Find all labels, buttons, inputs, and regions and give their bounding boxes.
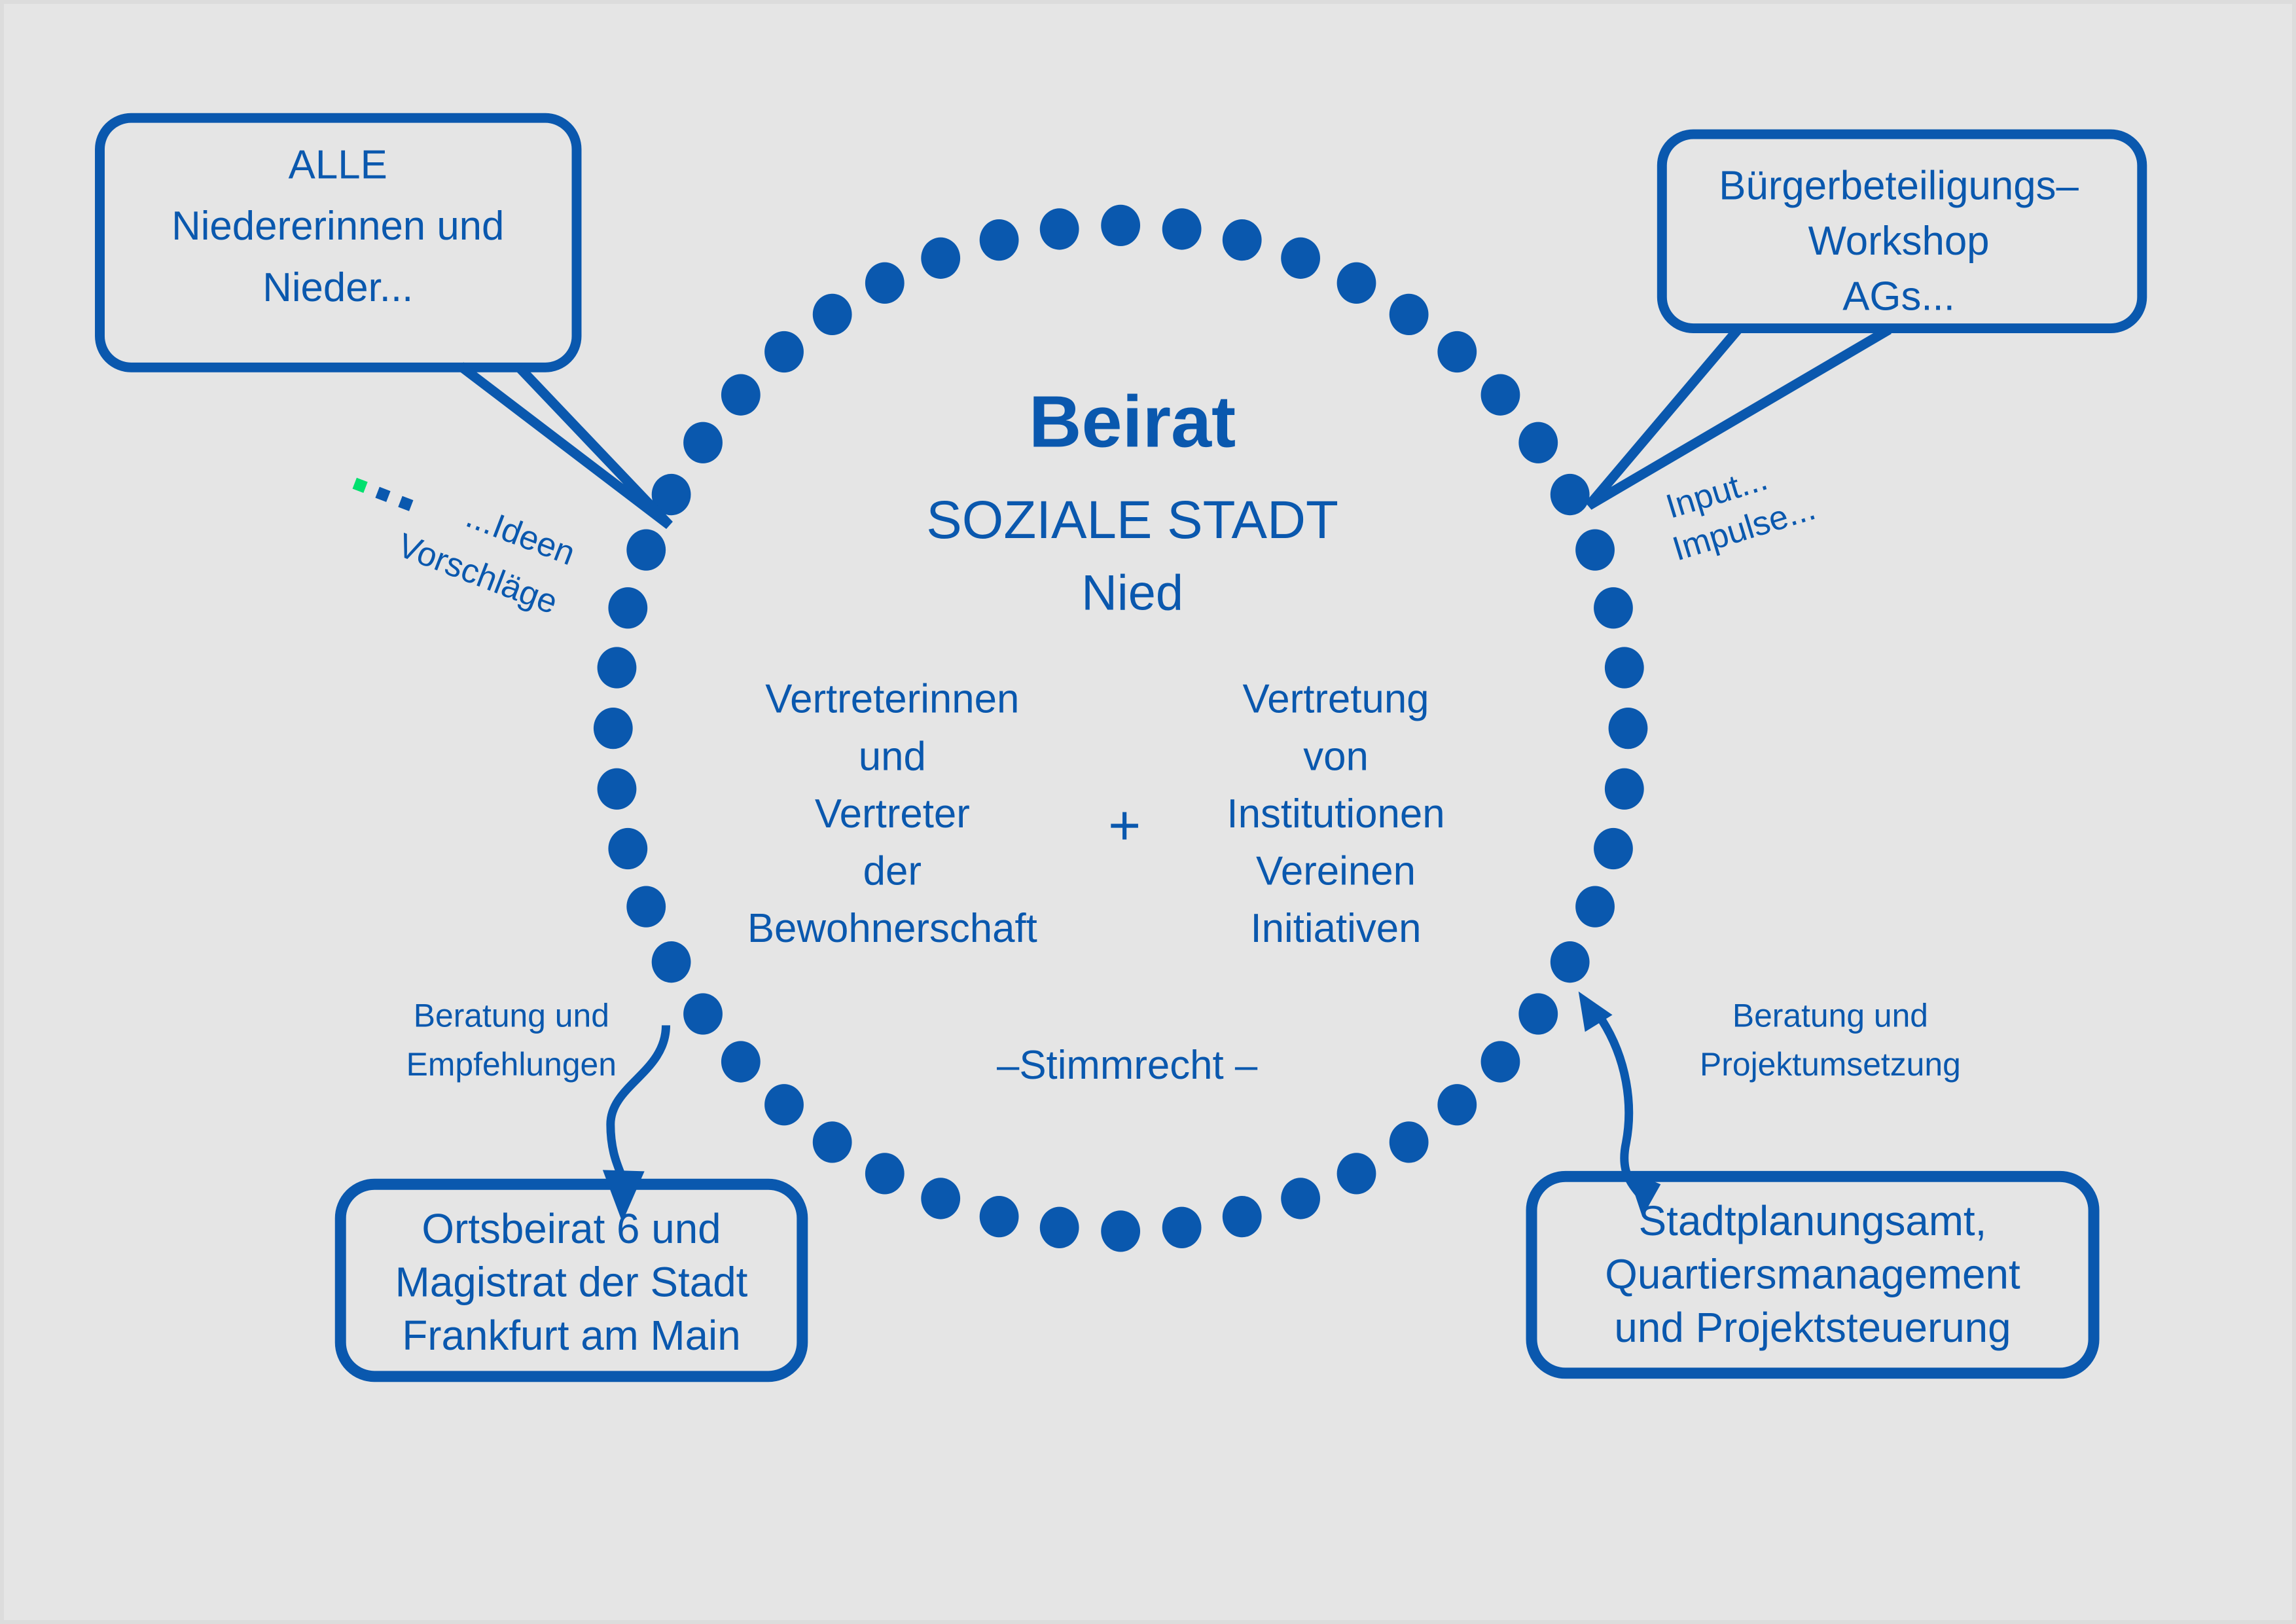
flow-label-right-top: Input... Impulse... [1662, 459, 1820, 568]
ring-dot [1575, 886, 1615, 927]
flow-right-bottom-line2: Projektumsetzung [1700, 1046, 1961, 1083]
ring-dot [1437, 331, 1477, 372]
right-col-line2: von [1303, 734, 1369, 779]
flow-left-leader-dots [353, 478, 414, 511]
ring-dot [1390, 294, 1429, 335]
operator-plus: + [1108, 794, 1141, 857]
ring-dot [865, 1153, 905, 1194]
right-col-line4: Vereinen [1256, 848, 1416, 893]
center-content: Beirat SOZIALE STADT Nied Vertreterinnen… [747, 381, 1445, 1088]
ring-dot [980, 219, 1019, 261]
ring-dot [865, 262, 905, 304]
left-col-line5: Bewohnerschaft [747, 906, 1037, 951]
arrow-double-icon-right [1602, 1020, 1641, 1196]
ring-dot [1609, 708, 1648, 749]
bubble-top-right-line3: AGs... [1842, 274, 1955, 319]
bubble-top-left-line2: Niedererinnen und [171, 204, 504, 249]
right-col-line1: Vertretung [1242, 677, 1429, 722]
ring-dot [764, 1084, 804, 1125]
ring-dot [594, 708, 633, 749]
center-title: Beirat [1029, 381, 1236, 463]
bubble-top-left-line3: Nieder... [262, 265, 413, 310]
left-col-line2: und [859, 734, 926, 779]
ring-dot [608, 828, 647, 869]
ring-dot [1575, 529, 1615, 570]
ring-dot [813, 1121, 852, 1163]
ring-dot [1518, 993, 1558, 1034]
ring-dot [921, 238, 960, 279]
box-bottom-left-line2: Magistrat der Stadt [395, 1258, 748, 1305]
right-col-line5: Initiativen [1251, 906, 1422, 951]
center-subtitle: SOZIALE STADT [926, 490, 1338, 550]
bubble-top-right-line1: Bürgerbeteiligungs– [1719, 164, 2079, 209]
bubble-top-left-tail [461, 366, 670, 525]
bubble-top-right-line2: Workshop [1808, 219, 1990, 264]
bubble-top-left-line1: ALLE [289, 143, 387, 188]
flow-left-bottom-line2: Empfehlungen [406, 1046, 617, 1083]
ring-dot [598, 647, 637, 688]
left-col-line3: Vertreter [815, 791, 970, 837]
ring-dot [1101, 1210, 1140, 1252]
left-col-line1: Vertreterinnen [765, 677, 1019, 722]
ring-dot [1481, 374, 1520, 416]
speech-bubble-top-left[interactable]: ALLE Niedererinnen und Nieder... [99, 118, 669, 525]
box-bottom-left-line1: Ortsbeirat 6 und [422, 1205, 721, 1252]
ring-dot [1518, 422, 1558, 463]
ring-dot [1281, 1178, 1320, 1219]
flow-left-bottom-line1: Beratung und [414, 997, 609, 1034]
ring-dot [764, 331, 804, 372]
ring-dot [1337, 262, 1376, 304]
ring-dot [813, 294, 852, 335]
box-bottom-right-line2: Quartiersmanagement [1605, 1251, 2020, 1298]
ring-dot [1040, 1207, 1079, 1248]
ring-dot [683, 422, 723, 463]
ring-dot [1551, 474, 1590, 515]
ring-dot [1337, 1153, 1376, 1194]
ring-dot [980, 1196, 1019, 1237]
arrow-down-icon-left [611, 1025, 666, 1182]
box-bottom-left-line3: Frankfurt am Main [402, 1312, 740, 1359]
flow-right-bottom-group: Beratung und Projektumsetzung [1579, 992, 1961, 1217]
speech-bubble-top-right[interactable]: Bürgerbeteiligungs– Workshop AGs... [1589, 134, 2142, 505]
ring-dot [1101, 205, 1140, 246]
ring-dot [652, 941, 691, 983]
ring-dot [683, 993, 723, 1034]
right-col-line3: Institutionen [1227, 791, 1444, 837]
ring-dot [1605, 768, 1644, 810]
ring-dot [1605, 647, 1644, 688]
ring-dot [1281, 238, 1320, 279]
box-bottom-left[interactable]: Ortsbeirat 6 und Magistrat der Stadt Fra… [340, 1184, 802, 1377]
ring-dot [1594, 828, 1633, 869]
ring-dot [921, 1178, 960, 1219]
flow-right-bottom-line1: Beratung und [1732, 997, 1928, 1034]
ring-dot [721, 1041, 761, 1082]
ring-dot [1437, 1084, 1477, 1125]
ring-dot [1040, 208, 1079, 249]
diagram-canvas: ALLE Niedererinnen und Nieder... Bürgerb… [0, 0, 2296, 1624]
box-bottom-right[interactable]: Stadtplanungsamt, Quartiersmanagement un… [1532, 1176, 2094, 1373]
box-bottom-right-line3: und Projektsteuerung [1614, 1304, 2011, 1351]
ring-dot [1551, 941, 1590, 983]
ring-dot [626, 886, 666, 927]
flow-label-left-top: ...Ideen Vorschläge [353, 478, 581, 621]
ring-dot [1594, 587, 1633, 628]
ring-dot [1223, 1196, 1262, 1237]
ring-dot [1390, 1121, 1429, 1163]
ring-dot [1481, 1041, 1520, 1082]
dotted-circle-icon [594, 205, 1647, 1252]
ring-dot [1223, 219, 1262, 261]
ring-dot [721, 374, 761, 416]
ring-dot [626, 529, 666, 570]
ring-dot [1162, 208, 1202, 249]
left-col-line4: der [863, 848, 922, 893]
box-bottom-right-line1: Stadtplanungsamt, [1639, 1197, 1987, 1244]
ring-dot [608, 587, 647, 628]
center-locality: Nied [1081, 566, 1183, 621]
ring-dot [1162, 1207, 1202, 1248]
ring-dot [598, 768, 637, 810]
beirat-organigram: ALLE Niedererinnen und Nieder... Bürgerb… [4, 4, 2292, 1620]
stimmrecht-label: –Stimmrecht – [997, 1043, 1258, 1088]
